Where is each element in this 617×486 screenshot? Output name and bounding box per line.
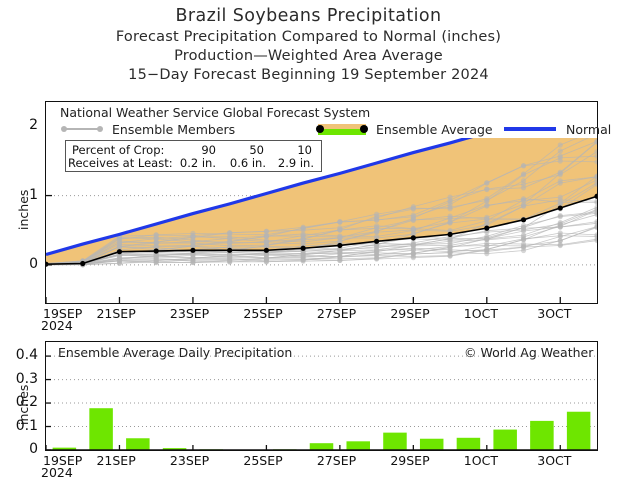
- page-title: Brazil Soybeans Precipitation: [0, 6, 617, 26]
- copyright-label: © World Ag Weather: [464, 345, 593, 360]
- top-x-tick-29SEP: 29SEP: [390, 306, 429, 321]
- bar: [457, 438, 481, 450]
- bar: [383, 433, 407, 450]
- crop-amount-50: 0.6 in.: [216, 156, 266, 170]
- crop-amount-10: 2.9 in.: [266, 156, 314, 170]
- bottom-y-tick-0: 0: [4, 441, 38, 457]
- bottom-x-axis-year: 2024: [41, 465, 73, 480]
- crop-amount-label: Receives at Least:: [68, 156, 173, 170]
- bar: [493, 430, 517, 450]
- top-x-tick-21SEP: 21SEP: [96, 306, 135, 321]
- bottom-y-tick-0.2: 0.2: [4, 394, 38, 410]
- bottom-y-tick-0.4: 0.4: [4, 347, 38, 363]
- crop-percent-label: Percent of Crop:: [72, 143, 164, 157]
- bar: [126, 438, 150, 450]
- bar: [310, 443, 334, 450]
- bottom-x-tick-21SEP: 21SEP: [96, 453, 135, 468]
- subtitle-line-1: Forecast Precipitation Compared to Norma…: [0, 29, 617, 45]
- bar: [567, 412, 591, 450]
- top-y-tick-1: 1: [12, 187, 38, 203]
- legend: National Weather Service Global Forecast…: [46, 102, 597, 138]
- top-x-tick-25SEP: 25SEP: [243, 306, 282, 321]
- percent-of-crop-table: Percent of Crop: 90 50 10 Receives at Le…: [65, 140, 322, 172]
- legend-label-ensemble-average: Ensemble Average: [376, 122, 493, 137]
- bar: [530, 421, 554, 450]
- bottom-x-tick-27SEP: 27SEP: [317, 453, 356, 468]
- bottom-y-tick-0.3: 0.3: [4, 371, 38, 387]
- bottom-x-tick-1OCT: 1OCT: [464, 453, 498, 468]
- top-x-axis-year: 2024: [41, 318, 73, 333]
- bar: [420, 439, 444, 450]
- subtitle-line-3: 15−Day Forecast Beginning 19 September 2…: [0, 67, 617, 83]
- title-block: Brazil Soybeans Precipitation Forecast P…: [0, 0, 617, 83]
- bottom-x-tick-29SEP: 29SEP: [390, 453, 429, 468]
- bottom-x-tick-3OCT: 3OCT: [537, 453, 571, 468]
- crop-percent-10: 10: [272, 143, 312, 157]
- bottom-panel-caption: Ensemble Average Daily Precipitation: [58, 345, 292, 360]
- legend-source-label: National Weather Service Global Forecast…: [60, 105, 370, 120]
- top-x-tick-1OCT: 1OCT: [464, 306, 498, 321]
- legend-items: Ensemble Members Ensemble Average Normal: [60, 121, 596, 137]
- subtitle-line-2: Production—Weighted Area Average: [0, 48, 617, 64]
- legend-label-normal: Normal: [566, 122, 611, 137]
- top-y-tick-0: 0: [12, 256, 38, 272]
- top-x-tick-23SEP: 23SEP: [170, 306, 209, 321]
- legend-label-ensemble-members: Ensemble Members: [112, 122, 235, 137]
- top-x-tick-3OCT: 3OCT: [537, 306, 571, 321]
- bottom-x-tick-25SEP: 25SEP: [243, 453, 282, 468]
- top-x-tick-27SEP: 27SEP: [317, 306, 356, 321]
- top-y-tick-2: 2: [12, 117, 38, 133]
- chart-page: Brazil Soybeans Precipitation Forecast P…: [0, 0, 617, 486]
- bar: [89, 408, 113, 450]
- crop-amount-90: 0.2 in.: [166, 156, 216, 170]
- crop-percent-90: 90: [176, 143, 216, 157]
- bottom-y-tick-0.1: 0.1: [4, 418, 38, 434]
- bar: [346, 441, 370, 450]
- crop-percent-50: 50: [224, 143, 264, 157]
- bottom-x-tick-23SEP: 23SEP: [170, 453, 209, 468]
